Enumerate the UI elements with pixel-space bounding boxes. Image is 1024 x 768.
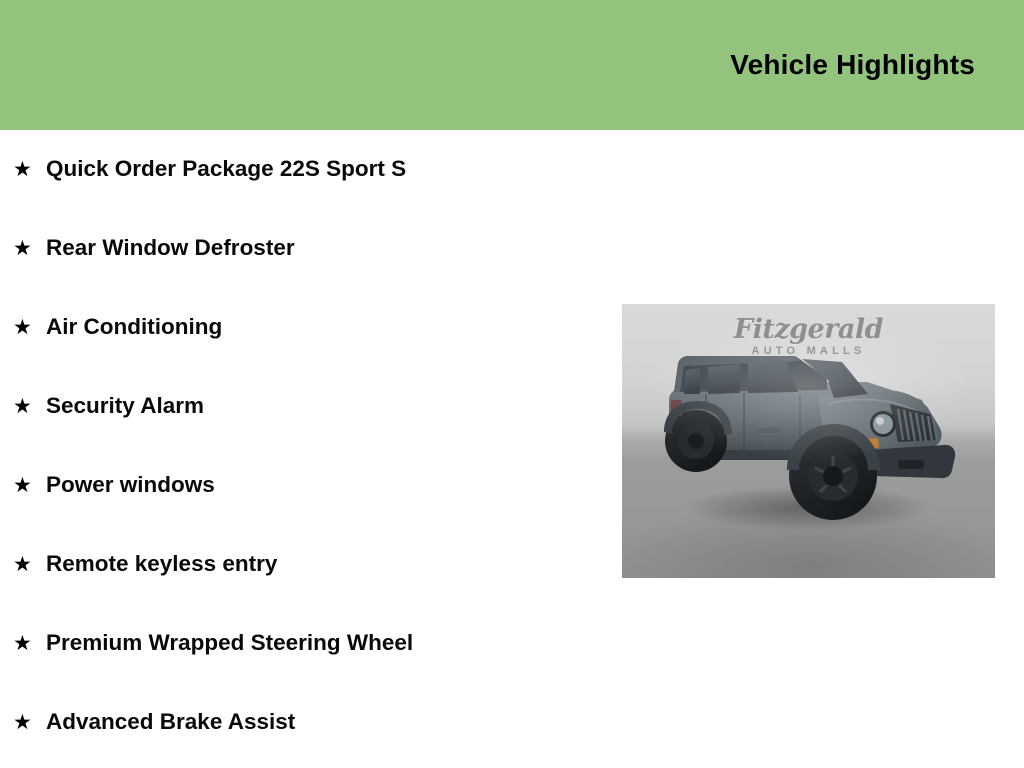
highlight-label: Power windows [46,474,215,497]
star-icon: ★ [13,396,46,417]
list-item: ★ Quick Order Package 22S Sport S [0,130,620,209]
star-icon: ★ [13,317,46,338]
vehicle-photo: Fitzgerald AUTO MALLS [622,304,995,578]
list-item: ★ Advanced Brake Assist [0,683,620,762]
star-icon: ★ [13,475,46,496]
list-item: ★ Premium Wrapped Steering Wheel [0,604,620,683]
list-item: ★ Power windows [0,446,620,525]
page-title: Vehicle Highlights [730,51,975,79]
list-item: ★ Rear Window Defroster [0,209,620,288]
list-item: ★ Remote keyless entry [0,525,620,604]
list-item: ★ Security Alarm [0,367,620,446]
list-item: ★ Air Conditioning [0,288,620,367]
highlight-label: Remote keyless entry [46,553,277,576]
jeep-wrangler-illustration [622,304,995,578]
header-banner: Vehicle Highlights [0,0,1024,130]
star-icon: ★ [13,554,46,575]
star-icon: ★ [13,712,46,733]
highlight-label: Premium Wrapped Steering Wheel [46,632,413,655]
highlight-label: Rear Window Defroster [46,237,295,260]
star-icon: ★ [13,238,46,259]
highlight-label: Quick Order Package 22S Sport S [46,158,406,181]
highlight-label: Advanced Brake Assist [46,711,295,734]
star-icon: ★ [13,159,46,180]
highlight-label: Security Alarm [46,395,204,418]
vehicle-highlights-list: ★ Quick Order Package 22S Sport S ★ Rear… [0,130,620,762]
highlight-label: Air Conditioning [46,316,222,339]
star-icon: ★ [13,633,46,654]
